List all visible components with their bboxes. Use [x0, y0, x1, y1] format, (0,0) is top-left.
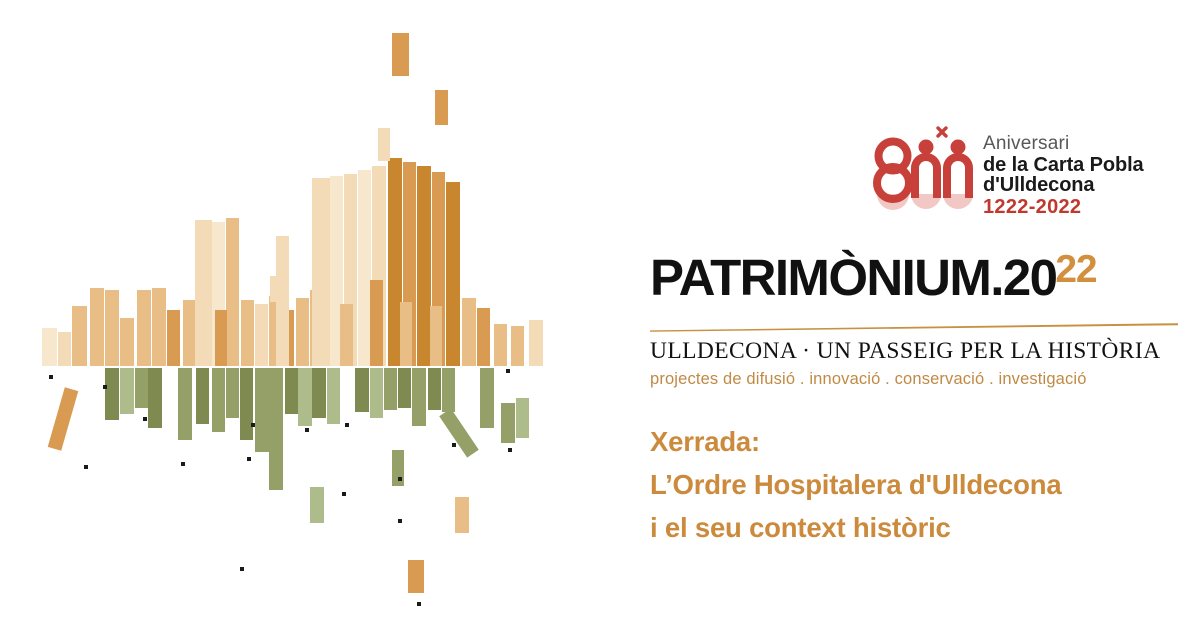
chart-bar-up-32	[340, 304, 353, 366]
chart-dot-11	[452, 443, 456, 447]
chart-bar-down-6	[212, 368, 225, 432]
chart-dot-7	[305, 428, 309, 432]
chart-dot-16	[506, 369, 510, 373]
chart-bar-down-4	[178, 368, 192, 440]
chart-bar-up-15	[195, 220, 212, 366]
title-main: PATRIMÒNIUM.20	[650, 249, 1056, 306]
chart-bar-down-10	[269, 368, 283, 490]
chart-dot-14	[417, 602, 421, 606]
chart-bar-up-31	[358, 170, 371, 366]
chart-bar-up-0	[42, 328, 57, 366]
chart-bar-up-21	[255, 304, 268, 366]
chart-bar-floating-0	[392, 33, 409, 76]
chart-bar-up-43	[462, 298, 476, 366]
chart-bar-down-5	[196, 368, 209, 424]
chart-dot-15	[398, 519, 402, 523]
tagline: ULLDECONA · UN PASSEIG PER LA HISTÒRIA	[650, 338, 1195, 365]
chart-dot-13	[240, 567, 244, 571]
chart-dot-4	[181, 462, 185, 466]
event-label: Xerrada:	[650, 420, 1195, 463]
divider-rule	[650, 322, 1178, 332]
chart-bar-down-16	[355, 368, 369, 412]
chart-bar-down-13	[312, 368, 326, 418]
chart-bar-down-1	[120, 368, 134, 414]
chart-dot-6	[251, 423, 255, 427]
chart-bar-up-1	[58, 332, 71, 366]
chart-bar-up-6	[120, 318, 134, 366]
chart-bar-down-21	[428, 368, 441, 410]
anniversary-logo: Aniversari de la Carta Pobla d'Ulldecona…	[865, 120, 1165, 225]
chart-dot-10	[398, 477, 402, 481]
chart-dot-1	[103, 385, 107, 389]
chart-bar-down-2	[135, 368, 148, 408]
chart-bar-up-45	[494, 324, 507, 366]
chart-bar-floating-1	[435, 90, 448, 125]
chart-bar-down-7	[226, 368, 239, 418]
chart-bar-up-10	[167, 310, 180, 366]
chart-bar-down-14	[327, 368, 340, 424]
chart-bar-down-3	[148, 368, 162, 428]
800-figures-icon	[865, 120, 975, 220]
chart-dot-3	[84, 465, 88, 469]
page-title: PATRIMÒNIUM.2022	[650, 248, 1195, 318]
logo-line-aniversari: Aniversari	[983, 134, 1144, 153]
chart-dot-0	[49, 375, 53, 379]
chart-bar-floating-9	[408, 560, 424, 593]
chart-bar-down-9	[255, 368, 269, 452]
chart-bar-up-25	[296, 298, 309, 366]
sub-tagline: projectes de difusió . innovació . conse…	[650, 370, 1195, 389]
chart-bar-down-19	[398, 368, 411, 408]
chart-bar-down-18	[384, 368, 397, 410]
chart-bar-floating-8	[455, 497, 469, 533]
chart-bar-up-36	[388, 158, 402, 366]
chart-bar-down-8	[240, 368, 253, 440]
chart-dot-5	[247, 457, 251, 461]
anniversary-logo-text: Aniversari de la Carta Pobla d'Ulldecona…	[983, 134, 1144, 217]
chart-bar-up-8	[137, 290, 151, 366]
chart-bar-up-19	[215, 310, 227, 366]
chart-bar-down-22	[442, 368, 455, 412]
chart-bar-floating-4	[310, 487, 324, 523]
event-title-line-2: i el seu context històric	[650, 506, 1195, 549]
chart-bar-up-40	[446, 182, 460, 366]
chart-bar-down-0	[105, 368, 119, 420]
event-block: Xerrada: L’Ordre Hospitalera d'Ulldecona…	[650, 420, 1195, 549]
chart-bar-floating-3	[270, 276, 282, 302]
chart-bar-up-41	[400, 302, 412, 366]
chart-bar-up-38	[417, 166, 431, 366]
chart-bar-up-17	[226, 218, 239, 366]
chart-bar-up-47	[529, 320, 543, 366]
chart-bar-up-44	[477, 308, 490, 366]
chart-bar-floating-7	[516, 398, 529, 438]
chart-bar-down-17	[370, 368, 383, 418]
chart-bar-rotated-1	[439, 408, 479, 457]
chart-bar-up-4	[90, 288, 104, 366]
content-panel: Aniversari de la Carta Pobla d'Ulldecona…	[640, 0, 1200, 627]
chart-bar-down-20	[412, 368, 426, 426]
chart-dot-8	[345, 423, 349, 427]
chart-bar-down-12	[298, 368, 312, 426]
chart-bar-up-35	[370, 280, 383, 366]
chart-bar-up-42	[430, 306, 442, 366]
chart-bar-up-46	[511, 326, 524, 366]
chart-bar-floating-2	[378, 128, 390, 161]
logo-line-ulldecona: d'Ulldecona	[983, 175, 1144, 195]
chart-bar-floating-6	[501, 403, 515, 443]
chart-bar-down-11	[285, 368, 298, 414]
chart-bar-up-28	[312, 178, 330, 366]
title-superscript: 22	[1055, 248, 1096, 291]
bar-graphic-canvas	[0, 0, 620, 627]
logo-line-years: 1222-2022	[983, 197, 1144, 217]
chart-bar-up-5	[105, 290, 119, 366]
chart-dot-12	[508, 448, 512, 452]
chart-bar-up-20	[241, 300, 254, 366]
chart-dot-9	[342, 492, 346, 496]
chart-dot-2	[143, 417, 147, 421]
event-title-line-1: L’Ordre Hospitalera d'Ulldecona	[650, 463, 1195, 506]
logo-line-carta-pobla: de la Carta Pobla	[983, 155, 1144, 175]
chart-bar-up-9	[152, 288, 166, 366]
chart-bar-down-24	[480, 368, 494, 428]
poster: Aniversari de la Carta Pobla d'Ulldecona…	[0, 0, 1200, 627]
abstract-bar-graphic	[0, 0, 620, 627]
chart-bar-up-12	[183, 300, 197, 366]
chart-bar-up-2	[72, 306, 87, 366]
chart-bar-rotated-0	[48, 387, 79, 450]
